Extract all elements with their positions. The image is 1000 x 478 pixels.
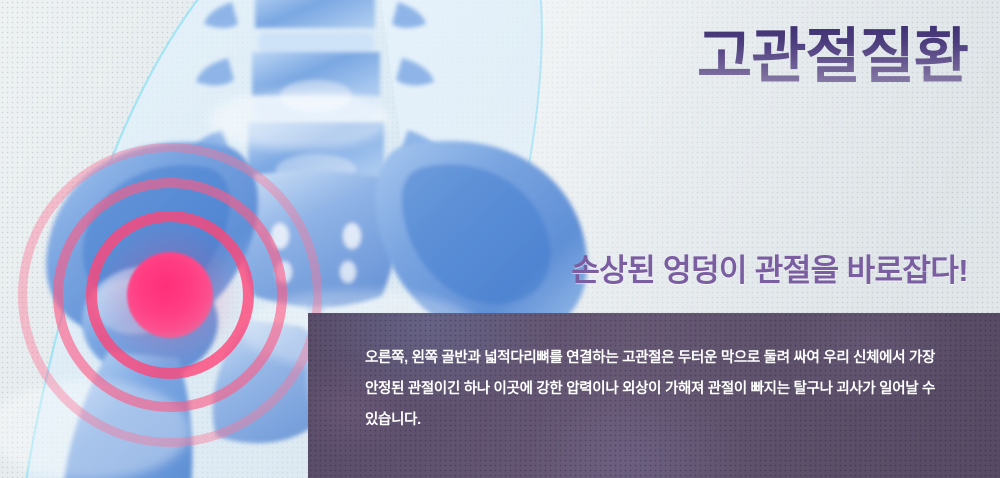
description-panel: 오른쪽, 왼쪽 골반과 넓적다리뼈를 연결하는 고관절은 두터운 막으로 둘려 …: [308, 313, 1000, 478]
description-line: 오른쪽, 왼쪽 골반과 넓적다리뼈를 연결하는 고관절은 두터운 막으로 둘려 …: [365, 343, 965, 374]
description-line: 있습니다.: [365, 405, 965, 436]
hip-disease-banner: 고관절질환 손상된 엉덩이 관절을 바로잡다! 오른쪽, 왼쪽 골반과 넓적다리…: [0, 0, 1000, 478]
description-line: 안정된 관절이긴 하나 이곳에 강한 압력이나 외상이 가해져 관절이 빠지는 …: [365, 374, 965, 405]
page-subtitle: 손상된 엉덩이 관절을 바로잡다!: [571, 245, 968, 290]
page-title: 고관절질환: [697, 22, 968, 91]
description-text: 오른쪽, 왼쪽 골반과 넓적다리뼈를 연결하는 고관절은 두터운 막으로 둘려 …: [365, 343, 965, 436]
